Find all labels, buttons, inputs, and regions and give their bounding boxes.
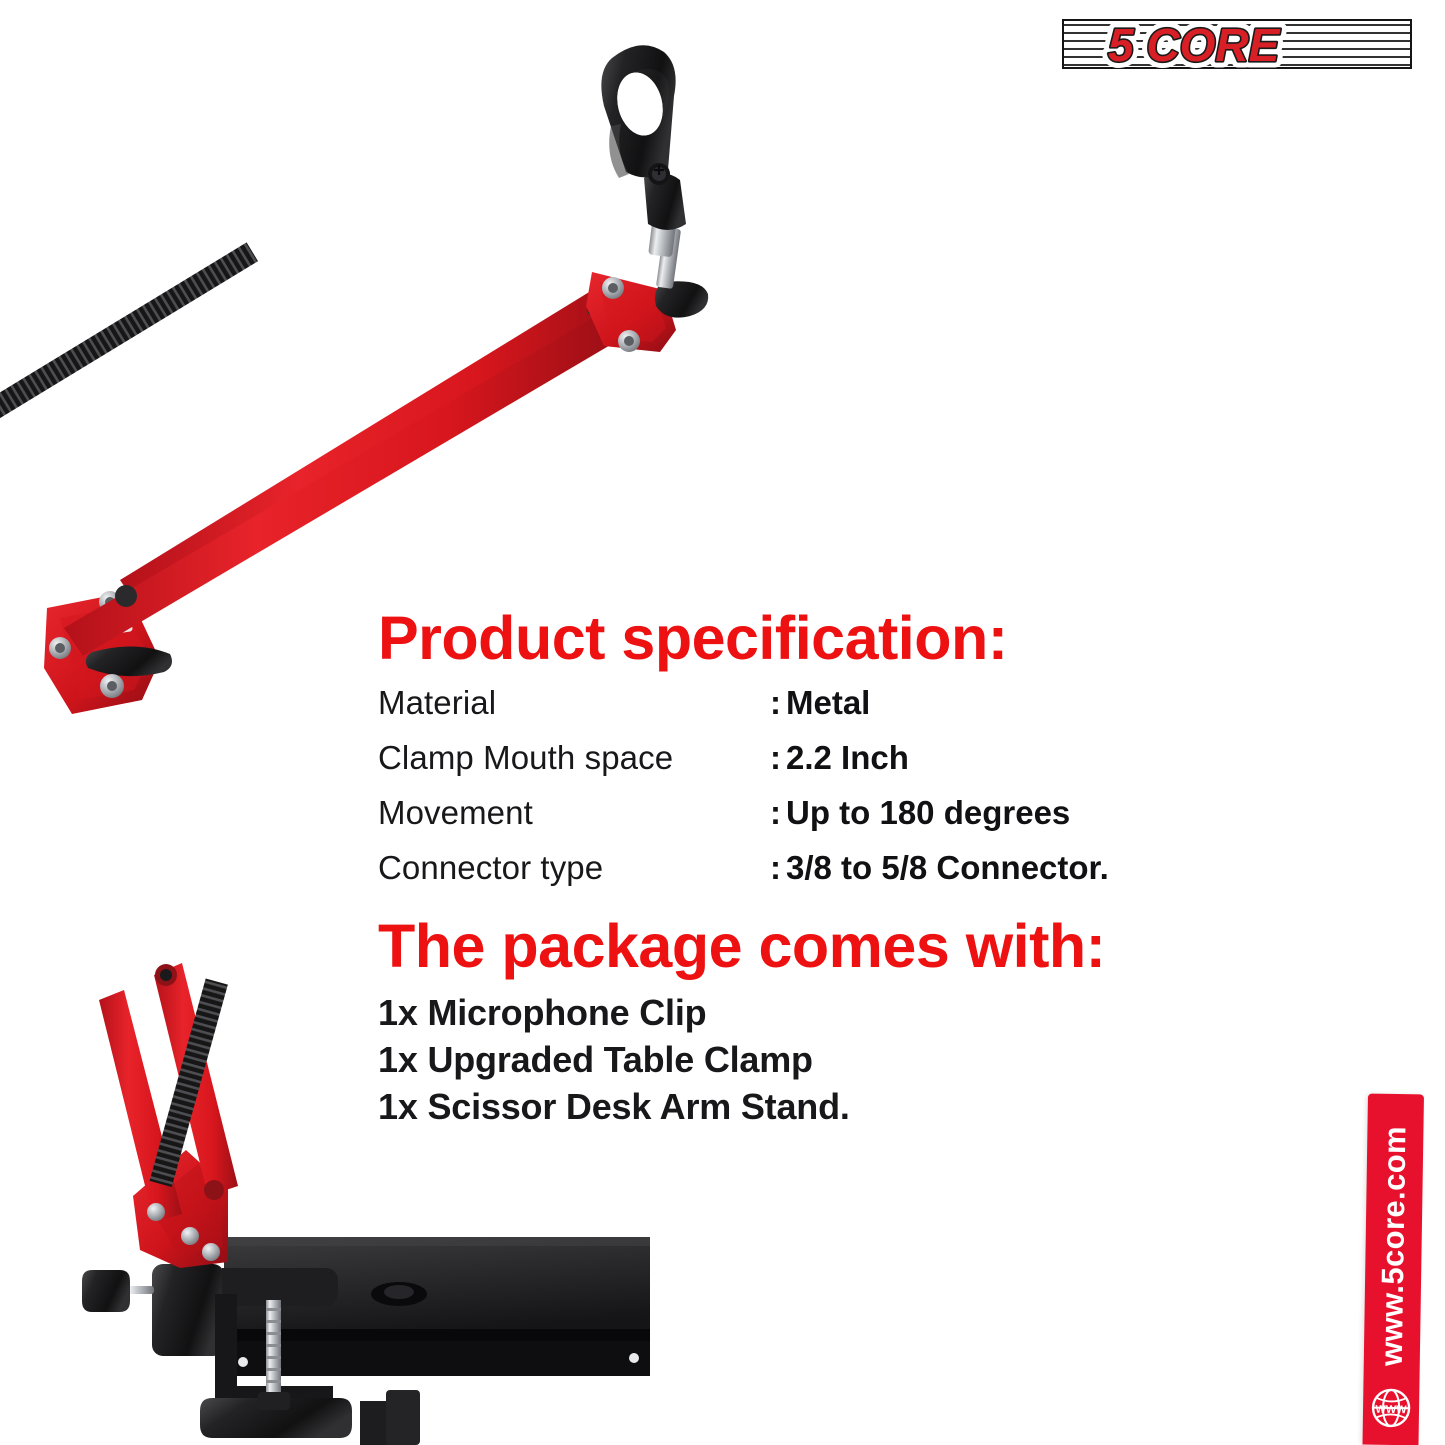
www-label: WWW	[1375, 1404, 1407, 1416]
spec-value-clamp-mouth-space-text: 2.2 Inch	[786, 739, 909, 776]
package-section-heading: The package comes with:	[378, 914, 1198, 978]
spec-value-clamp-mouth-space: :2.2 Inch	[770, 739, 909, 777]
spec-value-connector-type: :3/8 to 5/8 Connector.	[770, 849, 1109, 887]
package-item: 1x Microphone Clip	[378, 990, 1198, 1037]
lower-arm-segment	[99, 963, 238, 1268]
spec-section-heading: Product specification:	[378, 606, 1198, 670]
spec-value-movement: :Up to 180 degrees	[770, 794, 1070, 832]
spec-label-material: Material	[378, 684, 770, 722]
spec-label-movement: Movement	[378, 794, 770, 832]
microphone-clip	[601, 45, 686, 257]
www-globe-icon: WWW	[1370, 1387, 1413, 1430]
spec-colon: :	[770, 794, 781, 831]
specification-table: Material :Metal Clamp Mouth space :2.2 I…	[378, 684, 1198, 904]
spec-row-clamp-mouth-space: Clamp Mouth space :2.2 Inch	[378, 739, 1198, 794]
website-url-text[interactable]: www.5core.com	[1374, 1126, 1414, 1367]
spec-row-movement: Movement :Up to 180 degrees	[378, 794, 1198, 849]
package-contents-list: 1x Microphone Clip 1x Upgraded Table Cla…	[378, 990, 1198, 1130]
package-item: 1x Scissor Desk Arm Stand.	[378, 1084, 1198, 1131]
product-info-graphic: 5 Core	[0, 0, 1445, 1445]
spec-label-clamp-mouth-space: Clamp Mouth space	[378, 739, 770, 777]
spec-row-connector-type: Connector type :3/8 to 5/8 Connector.	[378, 849, 1198, 904]
product-info-text: Product specification: Material :Metal C…	[378, 606, 1198, 1130]
spec-value-movement-text: Up to 180 degrees	[786, 794, 1070, 831]
spec-colon: :	[770, 739, 781, 776]
spec-value-material: :Metal	[770, 684, 870, 722]
website-banner[interactable]: www.5core.com WWW	[1362, 1094, 1424, 1445]
top-bracket	[586, 227, 708, 352]
package-item: 1x Upgraded Table Clamp	[378, 1037, 1198, 1084]
spec-value-material-text: Metal	[786, 684, 870, 721]
spec-row-material: Material :Metal	[378, 684, 1198, 739]
spec-value-connector-type-text: 3/8 to 5/8 Connector.	[786, 849, 1109, 886]
brand-logo: 5 CORE 5 CORE 5 CORE	[1062, 16, 1412, 72]
logo-text: 5 CORE	[1108, 19, 1281, 71]
spec-colon: :	[770, 849, 781, 886]
spec-colon: :	[770, 684, 781, 721]
upper-arm-segment	[0, 242, 628, 656]
spec-label-connector-type: Connector type	[378, 849, 770, 887]
